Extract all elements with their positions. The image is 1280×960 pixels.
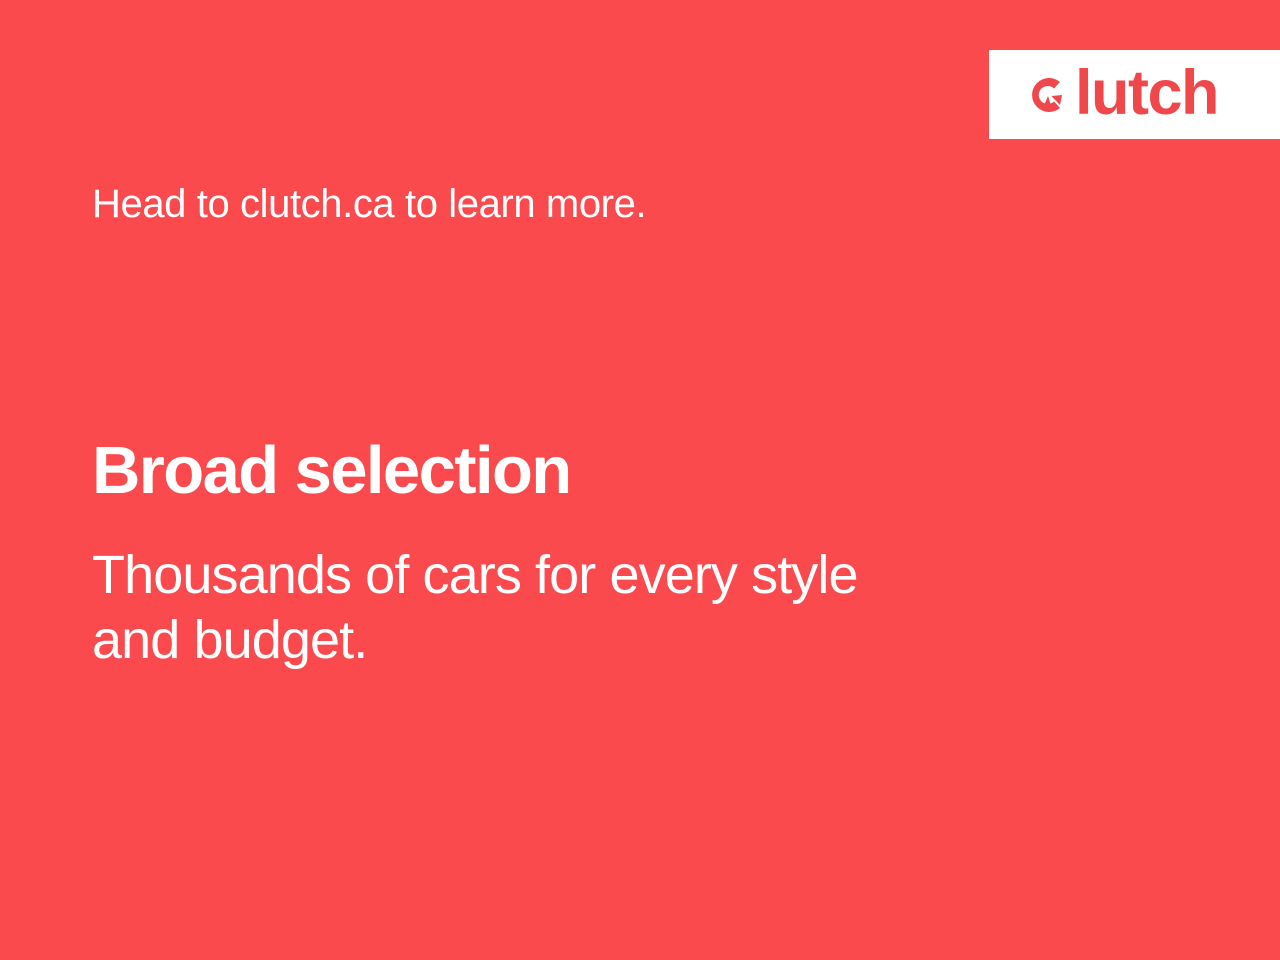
page-title: Broad selection [92,437,571,505]
brand-logo-plate: lutch [989,50,1280,139]
subtitle-text: Thousands of cars for every style and bu… [92,543,1052,673]
subtitle-line-1: Thousands of cars for every style [92,543,1052,608]
clutch-wordmark: lutch [1075,62,1218,125]
clutch-c-mark-icon [1023,70,1073,120]
subtitle-line-2: and budget. [92,608,1052,673]
clutch-logo[interactable]: lutch [1023,63,1218,126]
promo-slide: lutch Head to clutch.ca to learn more. B… [0,0,1280,960]
eyebrow-text: Head to clutch.ca to learn more. [92,182,646,226]
